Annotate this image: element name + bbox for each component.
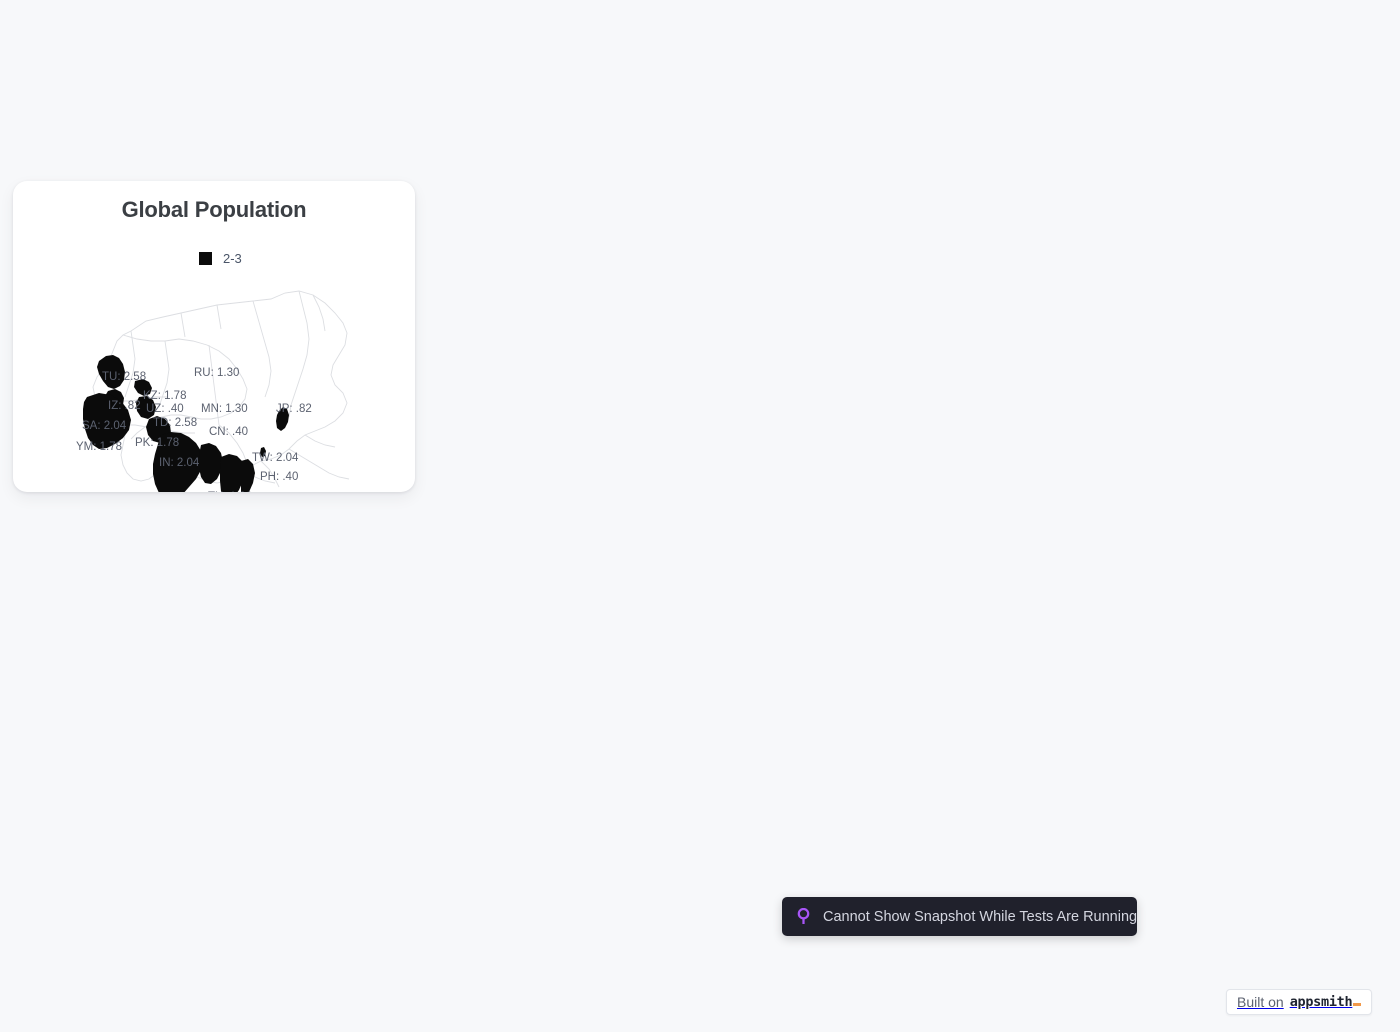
toast-notification[interactable]: Cannot Show Snapshot While Tests Are Run… [782, 897, 1137, 936]
built-on-appsmith-badge[interactable]: Built on appsmith [1226, 989, 1372, 1015]
map-widget-card[interactable]: Global Population [13, 181, 415, 492]
toast-message: Cannot Show Snapshot While Tests Are Run… [823, 909, 1137, 925]
legend-swatch-2-3 [199, 252, 212, 265]
location-pin-icon [796, 908, 811, 925]
legend-label-2-3: 2-3 [223, 252, 242, 265]
appsmith-wordmark: appsmith [1290, 994, 1362, 1010]
map-widget-title: Global Population [13, 197, 415, 223]
appsmith-cursor-icon [1353, 1003, 1361, 1006]
map-legend: 2-3 [199, 252, 242, 265]
appsmith-brand-text: appsmith [1290, 994, 1353, 1010]
map-canvas[interactable]: 2-3 TU: 2.58 IZ: .82 SA: 2.04 YM: 1.78 K… [13, 229, 415, 492]
world-map-svg[interactable] [13, 229, 415, 492]
built-on-prefix: Built on [1237, 994, 1284, 1010]
map-highlighted-regions [83, 355, 289, 492]
